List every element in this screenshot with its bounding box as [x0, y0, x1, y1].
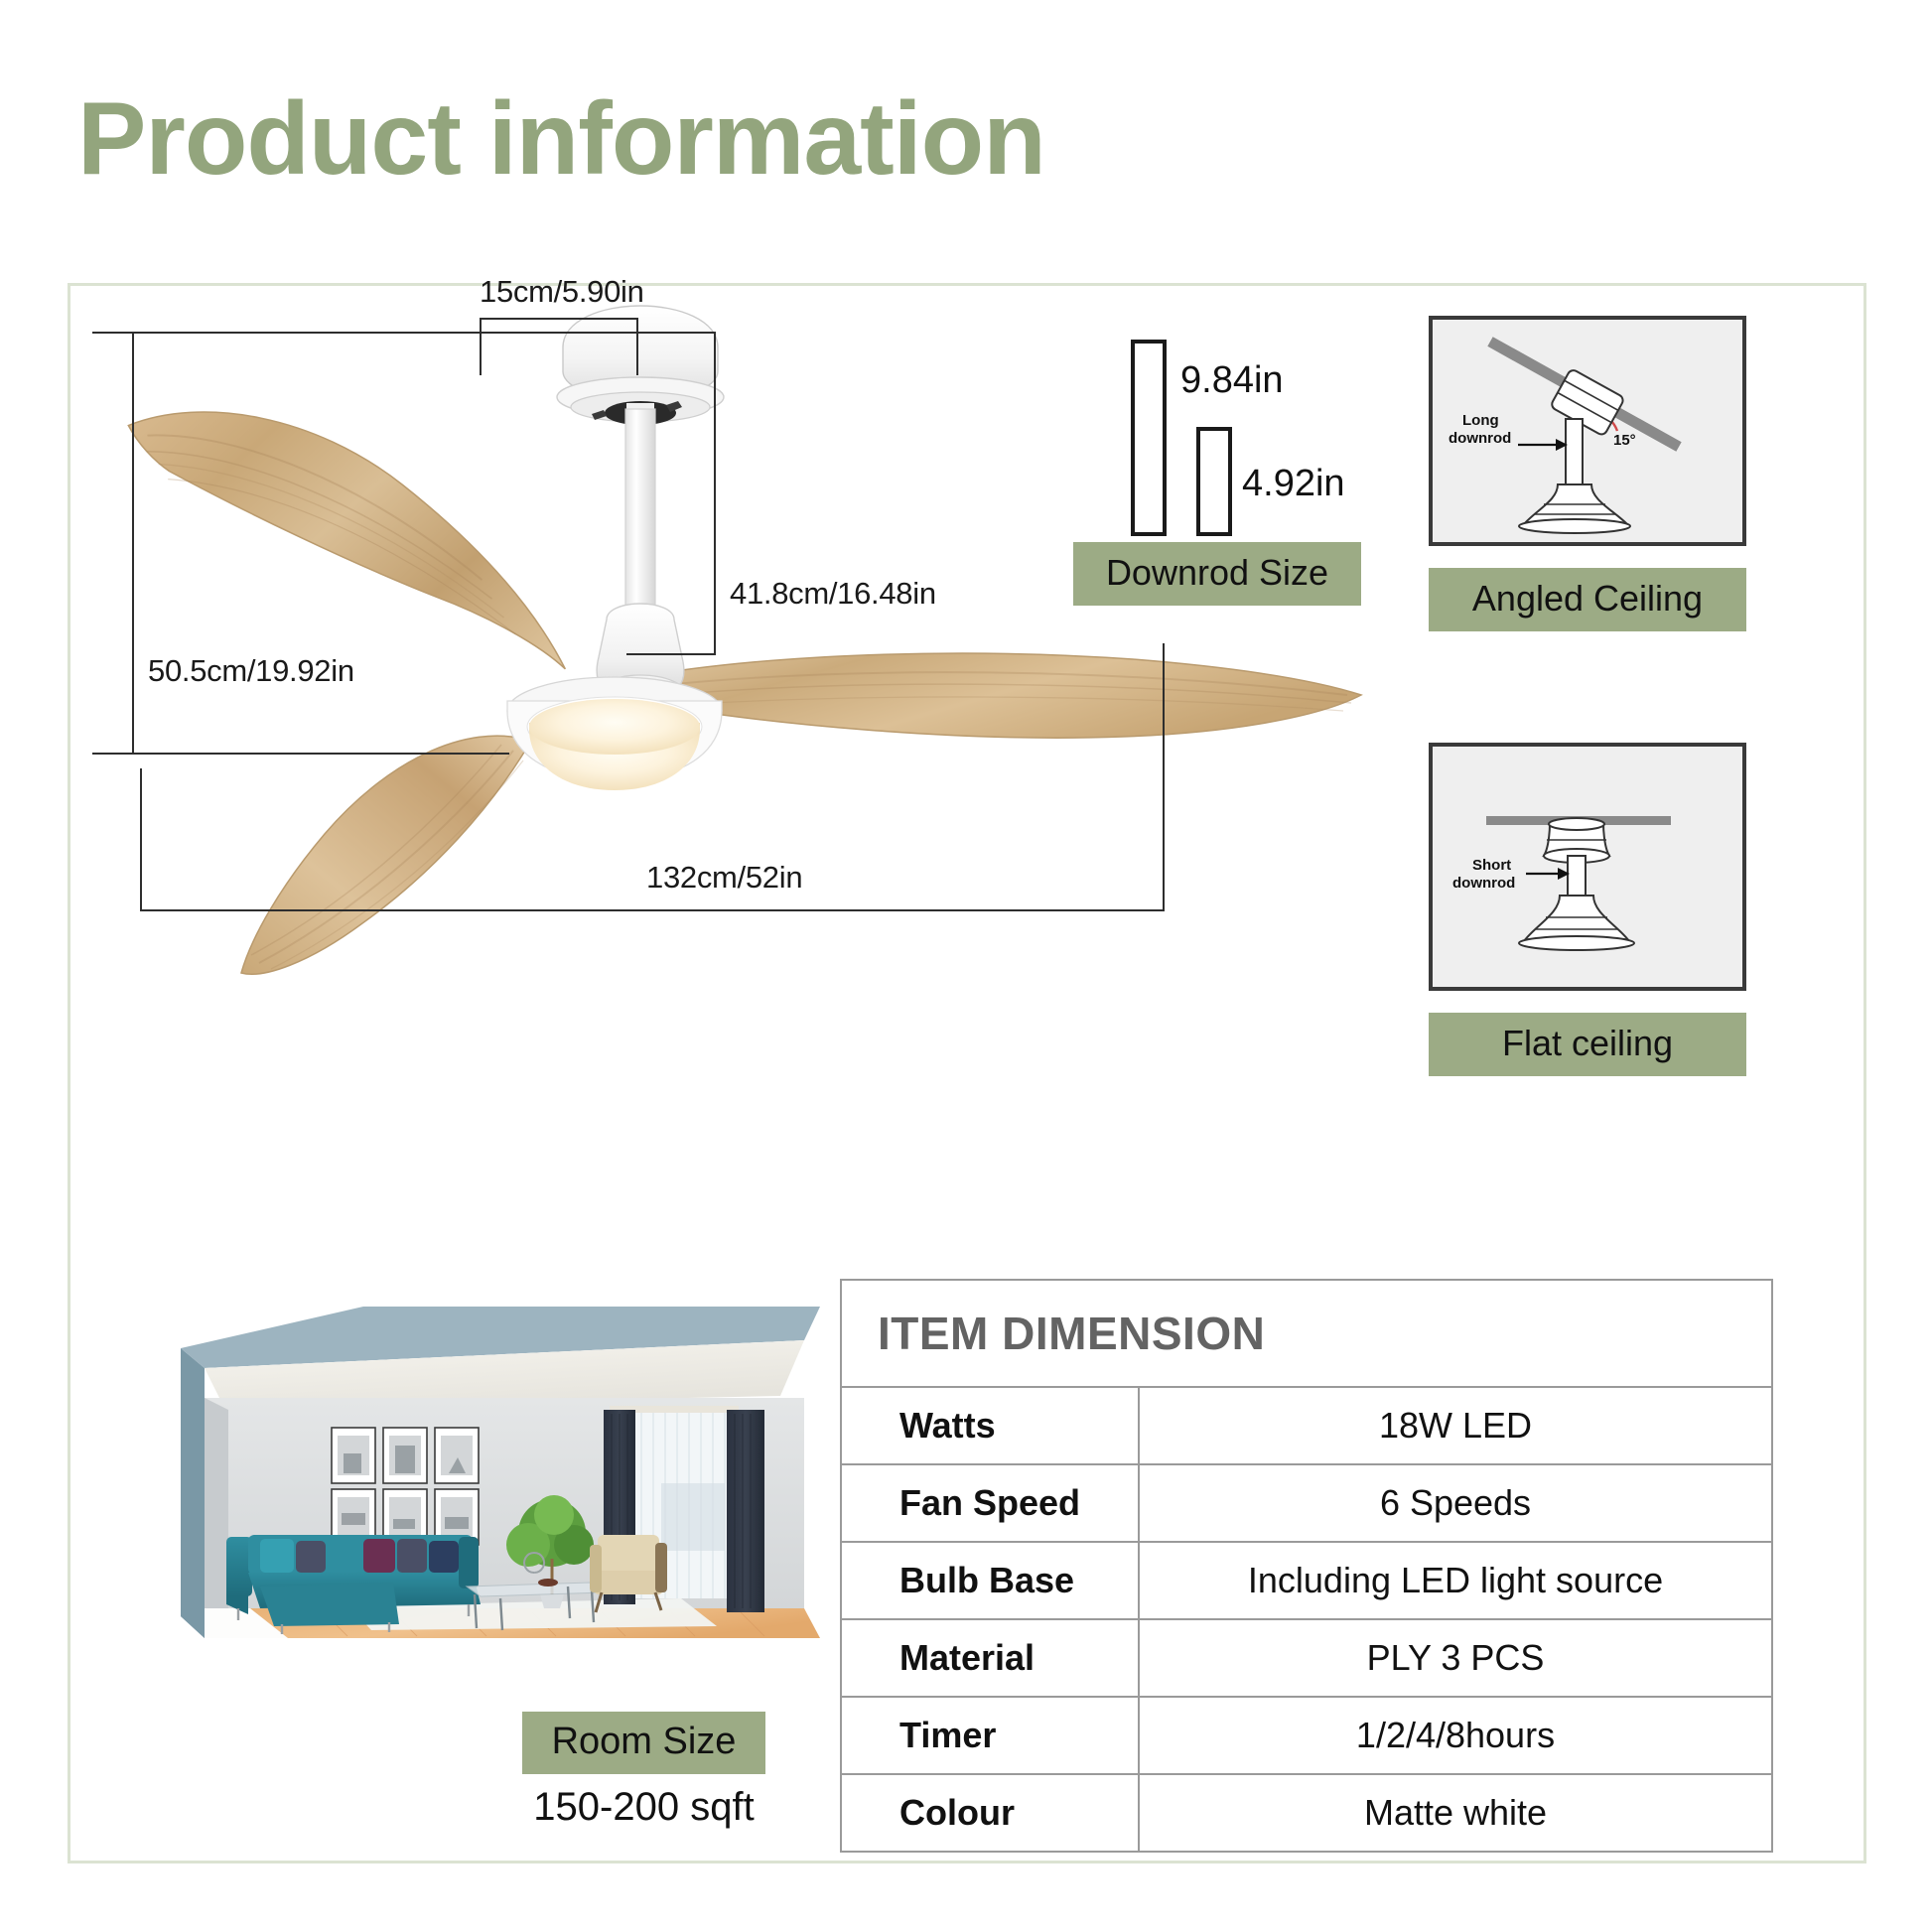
- table-header-row: ITEM DIMENSION: [841, 1280, 1772, 1387]
- dim-line-canopy-width: [480, 318, 638, 320]
- spec-key-material: Material: [841, 1619, 1139, 1697]
- table-row: Fan Speed 6 Speeds: [841, 1464, 1772, 1542]
- ceiling-reference-line-right: [636, 332, 716, 334]
- spec-key-fan-speed: Fan Speed: [841, 1464, 1139, 1542]
- dim-label-total-height: 50.5cm/19.92in: [148, 653, 354, 689]
- dim-tick-span-right: [1163, 643, 1165, 911]
- flat-ceiling-panel: Short downrod Flat ceiling: [1429, 743, 1746, 1076]
- angled-ceiling-badge: Angled Ceiling: [1429, 568, 1746, 631]
- content-frame: 15cm/5.90in 41.8cm/16.48in 50.5cm/19.92i…: [68, 283, 1866, 1863]
- dim-line-blade-span: [140, 909, 1165, 911]
- spec-value-material: PLY 3 PCS: [1139, 1619, 1772, 1697]
- spec-key-colour: Colour: [841, 1774, 1139, 1852]
- ceiling-reference-line: [92, 332, 688, 334]
- room-size-illustration: [165, 1289, 840, 1686]
- dim-label-blade-span: 132cm/52in: [646, 860, 802, 896]
- room-size-badge: Room Size: [522, 1712, 765, 1774]
- spec-value-timer: 1/2/4/8hours: [1139, 1697, 1772, 1774]
- downrod-label-short: 4.92in: [1242, 463, 1345, 505]
- table-header-label: ITEM DIMENSION: [841, 1280, 1772, 1387]
- spec-key-timer: Timer: [841, 1697, 1139, 1774]
- product-information-page: Product information: [0, 0, 1932, 1932]
- ceiling-canopy: [557, 306, 724, 425]
- flat-ceiling-image: Short downrod: [1429, 743, 1746, 991]
- flat-ceiling-badge: Flat ceiling: [1429, 1013, 1746, 1076]
- table-row: Material PLY 3 PCS: [841, 1619, 1772, 1697]
- svg-text:Short: Short: [1472, 857, 1511, 874]
- dim-line-drop-height: [714, 332, 716, 655]
- table-row: Timer 1/2/4/8hours: [841, 1697, 1772, 1774]
- dim-label-drop-height: 41.8cm/16.48in: [730, 576, 936, 612]
- spec-value-bulb-base: Including LED light source: [1139, 1542, 1772, 1619]
- downrod: [625, 409, 655, 618]
- spec-key-bulb-base: Bulb Base: [841, 1542, 1139, 1619]
- spec-value-watts: 18W LED: [1139, 1387, 1772, 1464]
- svg-text:downrod: downrod: [1449, 430, 1511, 447]
- dim-tick-canopy-right: [636, 318, 638, 375]
- dim-tick-canopy-left: [480, 318, 482, 375]
- dim-tick-drop-bottom: [626, 653, 716, 655]
- downrod-bar-long: [1131, 340, 1167, 536]
- led-light-kit: [507, 677, 722, 790]
- svg-text:15°: 15°: [1613, 432, 1636, 449]
- svg-text:downrod: downrod: [1452, 875, 1515, 892]
- room-size-value: 150-200 sqft: [507, 1785, 780, 1830]
- dim-tick-span-left: [140, 768, 142, 911]
- table-row: Colour Matte white: [841, 1774, 1772, 1852]
- spec-value-colour: Matte white: [1139, 1774, 1772, 1852]
- angled-ceiling-image: 15° Long downrod: [1429, 316, 1746, 546]
- item-dimension-table: ITEM DIMENSION Watts 18W LED Fan Speed 6…: [840, 1279, 1773, 1853]
- svg-text:Long: Long: [1462, 412, 1499, 429]
- table-row: Bulb Base Including LED light source: [841, 1542, 1772, 1619]
- dim-tick-total-bottom: [92, 753, 509, 755]
- dim-label-canopy-width: 15cm/5.90in: [480, 274, 644, 310]
- downrod-size-panel: 9.84in 4.92in Downrod Size: [1073, 326, 1361, 594]
- page-title: Product information: [77, 87, 1045, 191]
- spec-value-fan-speed: 6 Speeds: [1139, 1464, 1772, 1542]
- downrod-label-long: 9.84in: [1180, 359, 1284, 402]
- table-row: Watts 18W LED: [841, 1387, 1772, 1464]
- downrod-size-badge: Downrod Size: [1073, 542, 1361, 606]
- dim-line-total-height: [132, 332, 134, 753]
- spec-key-watts: Watts: [841, 1387, 1139, 1464]
- angled-ceiling-panel: 15° Long downrod: [1429, 316, 1746, 631]
- downrod-bar-short: [1196, 427, 1232, 536]
